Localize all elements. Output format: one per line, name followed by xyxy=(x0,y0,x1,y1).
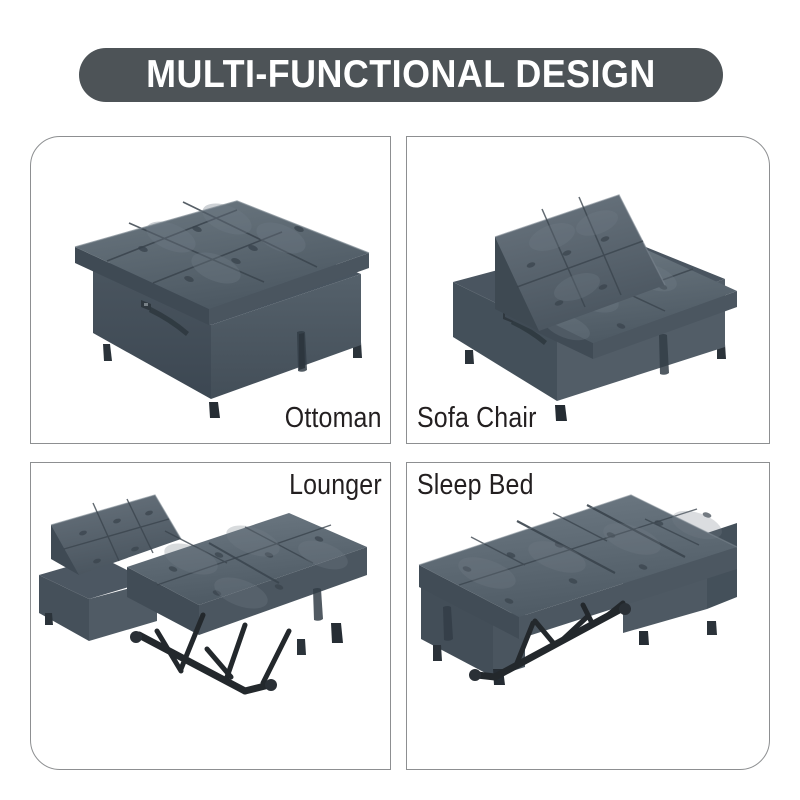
infographic-root: MULTI-FUNCTIONAL DESIGN xyxy=(0,0,800,800)
page-title: MULTI-FUNCTIONAL DESIGN xyxy=(146,53,656,97)
ottoman-illustration xyxy=(31,137,390,443)
sofa-chair-illustration xyxy=(407,137,769,443)
panel-sofa-chair[interactable]: Sofa Chair xyxy=(406,136,770,444)
panel-label-lounger: Lounger xyxy=(289,469,382,502)
lounger-illustration xyxy=(31,463,390,769)
panel-sleep-bed[interactable]: Sleep Bed xyxy=(406,462,770,770)
panel-label-sofa-chair: Sofa Chair xyxy=(417,402,537,435)
panel-ottoman[interactable]: Ottoman xyxy=(30,136,391,444)
header-banner: MULTI-FUNCTIONAL DESIGN xyxy=(79,48,723,102)
sleep-bed-illustration xyxy=(407,463,769,769)
panel-lounger[interactable]: Lounger xyxy=(30,462,391,770)
panel-label-ottoman: Ottoman xyxy=(285,402,382,435)
panel-label-sleep-bed: Sleep Bed xyxy=(417,469,534,502)
